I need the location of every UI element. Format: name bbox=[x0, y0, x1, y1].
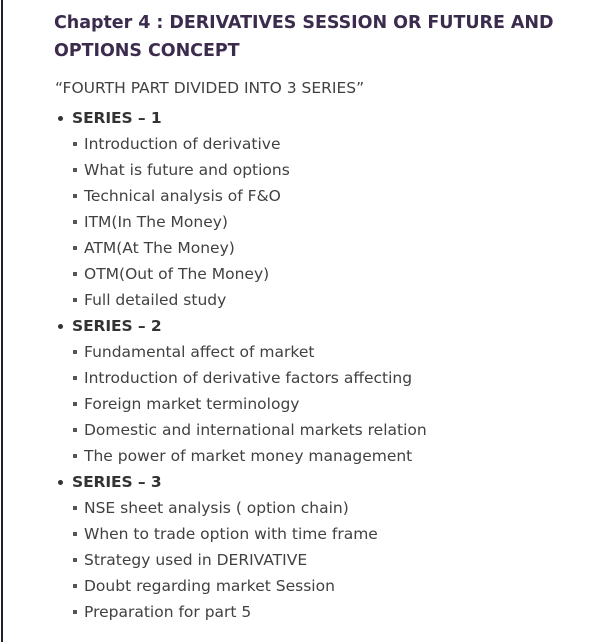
list-item-label: Technical analysis of F&O bbox=[84, 187, 281, 205]
square-bullet-icon bbox=[73, 272, 77, 276]
list-item-label: Preparation for part 5 bbox=[84, 603, 251, 621]
list-item: Strategy used in DERIVATIVE bbox=[54, 547, 591, 573]
list-item-label: When to trade option with time frame bbox=[84, 525, 378, 543]
series-block: SERIES – 3 NSE sheet analysis ( option c… bbox=[54, 469, 591, 625]
series-heading-label: SERIES – 1 bbox=[72, 109, 162, 127]
list-item: Fundamental affect of market bbox=[54, 339, 591, 365]
list-item-label: OTM(Out of The Money) bbox=[84, 265, 269, 283]
list-item: NSE sheet analysis ( option chain) bbox=[54, 495, 591, 521]
square-bullet-icon bbox=[73, 350, 77, 354]
list-item: Introduction of derivative factors affec… bbox=[54, 365, 591, 391]
intro-paragraph: “FOURTH PART DIVIDED INTO 3 SERIES” bbox=[55, 77, 591, 99]
square-bullet-icon bbox=[73, 402, 77, 406]
list-item-label: Domestic and international markets relat… bbox=[84, 421, 427, 439]
square-bullet-icon bbox=[73, 168, 77, 172]
list-item-label: Fundamental affect of market bbox=[84, 343, 314, 361]
square-bullet-icon bbox=[73, 454, 77, 458]
series-heading-label: SERIES – 3 bbox=[72, 473, 162, 491]
list-item: Full detailed study bbox=[54, 287, 591, 313]
disc-bullet-icon bbox=[58, 324, 63, 329]
list-item: Domestic and international markets relat… bbox=[54, 417, 591, 443]
list-item-label: ITM(In The Money) bbox=[84, 213, 228, 231]
square-bullet-icon bbox=[73, 298, 77, 302]
square-bullet-icon bbox=[73, 376, 77, 380]
square-bullet-icon bbox=[73, 584, 77, 588]
list-item: ITM(In The Money) bbox=[54, 209, 591, 235]
list-item-label: The power of market money management bbox=[84, 447, 412, 465]
list-item-label: What is future and options bbox=[84, 161, 290, 179]
list-item: Preparation for part 5 bbox=[54, 599, 591, 625]
square-bullet-icon bbox=[73, 428, 77, 432]
list-item: Doubt regarding market Session bbox=[54, 573, 591, 599]
series-heading: SERIES – 3 bbox=[54, 469, 591, 495]
list-item: What is future and options bbox=[54, 157, 591, 183]
series-heading: SERIES – 1 bbox=[54, 105, 591, 131]
list-item: Introduction of derivative bbox=[54, 131, 591, 157]
list-item-label: Introduction of derivative factors affec… bbox=[84, 369, 412, 387]
list-item: The power of market money management bbox=[54, 443, 591, 469]
list-item: Technical analysis of F&O bbox=[54, 183, 591, 209]
list-item: ATM(At The Money) bbox=[54, 235, 591, 261]
disc-bullet-icon bbox=[58, 116, 63, 121]
series-block: SERIES – 2 Fundamental affect of market … bbox=[54, 313, 591, 469]
series-block: SERIES – 1 Introduction of derivative Wh… bbox=[54, 105, 591, 313]
list-item: Foreign market terminology bbox=[54, 391, 591, 417]
list-item-label: Introduction of derivative bbox=[84, 135, 280, 153]
list-item-label: Full detailed study bbox=[84, 291, 226, 309]
series-sub-list: Fundamental affect of market Introductio… bbox=[54, 339, 591, 469]
square-bullet-icon bbox=[73, 610, 77, 614]
list-item-label: ATM(At The Money) bbox=[84, 239, 235, 257]
disc-bullet-icon bbox=[58, 480, 63, 485]
document-page: Chapter 4 : DERIVATIVES SESSION OR FUTUR… bbox=[0, 0, 609, 625]
square-bullet-icon bbox=[73, 246, 77, 250]
list-item: When to trade option with time frame bbox=[54, 521, 591, 547]
series-sub-list: Introduction of derivative What is futur… bbox=[54, 131, 591, 313]
series-list: SERIES – 1 Introduction of derivative Wh… bbox=[54, 105, 591, 625]
list-item: OTM(Out of The Money) bbox=[54, 261, 591, 287]
series-heading-label: SERIES – 2 bbox=[72, 317, 162, 335]
square-bullet-icon bbox=[73, 532, 77, 536]
series-sub-list: NSE sheet analysis ( option chain) When … bbox=[54, 495, 591, 625]
list-item-label: NSE sheet analysis ( option chain) bbox=[84, 499, 349, 517]
square-bullet-icon bbox=[73, 142, 77, 146]
page-title: Chapter 4 : DERIVATIVES SESSION OR FUTUR… bbox=[54, 9, 591, 65]
square-bullet-icon bbox=[73, 558, 77, 562]
series-heading: SERIES – 2 bbox=[54, 313, 591, 339]
square-bullet-icon bbox=[73, 506, 77, 510]
list-item-label: Strategy used in DERIVATIVE bbox=[84, 551, 307, 569]
square-bullet-icon bbox=[73, 220, 77, 224]
list-item-label: Doubt regarding market Session bbox=[84, 577, 335, 595]
list-item-label: Foreign market terminology bbox=[84, 395, 299, 413]
square-bullet-icon bbox=[73, 194, 77, 198]
